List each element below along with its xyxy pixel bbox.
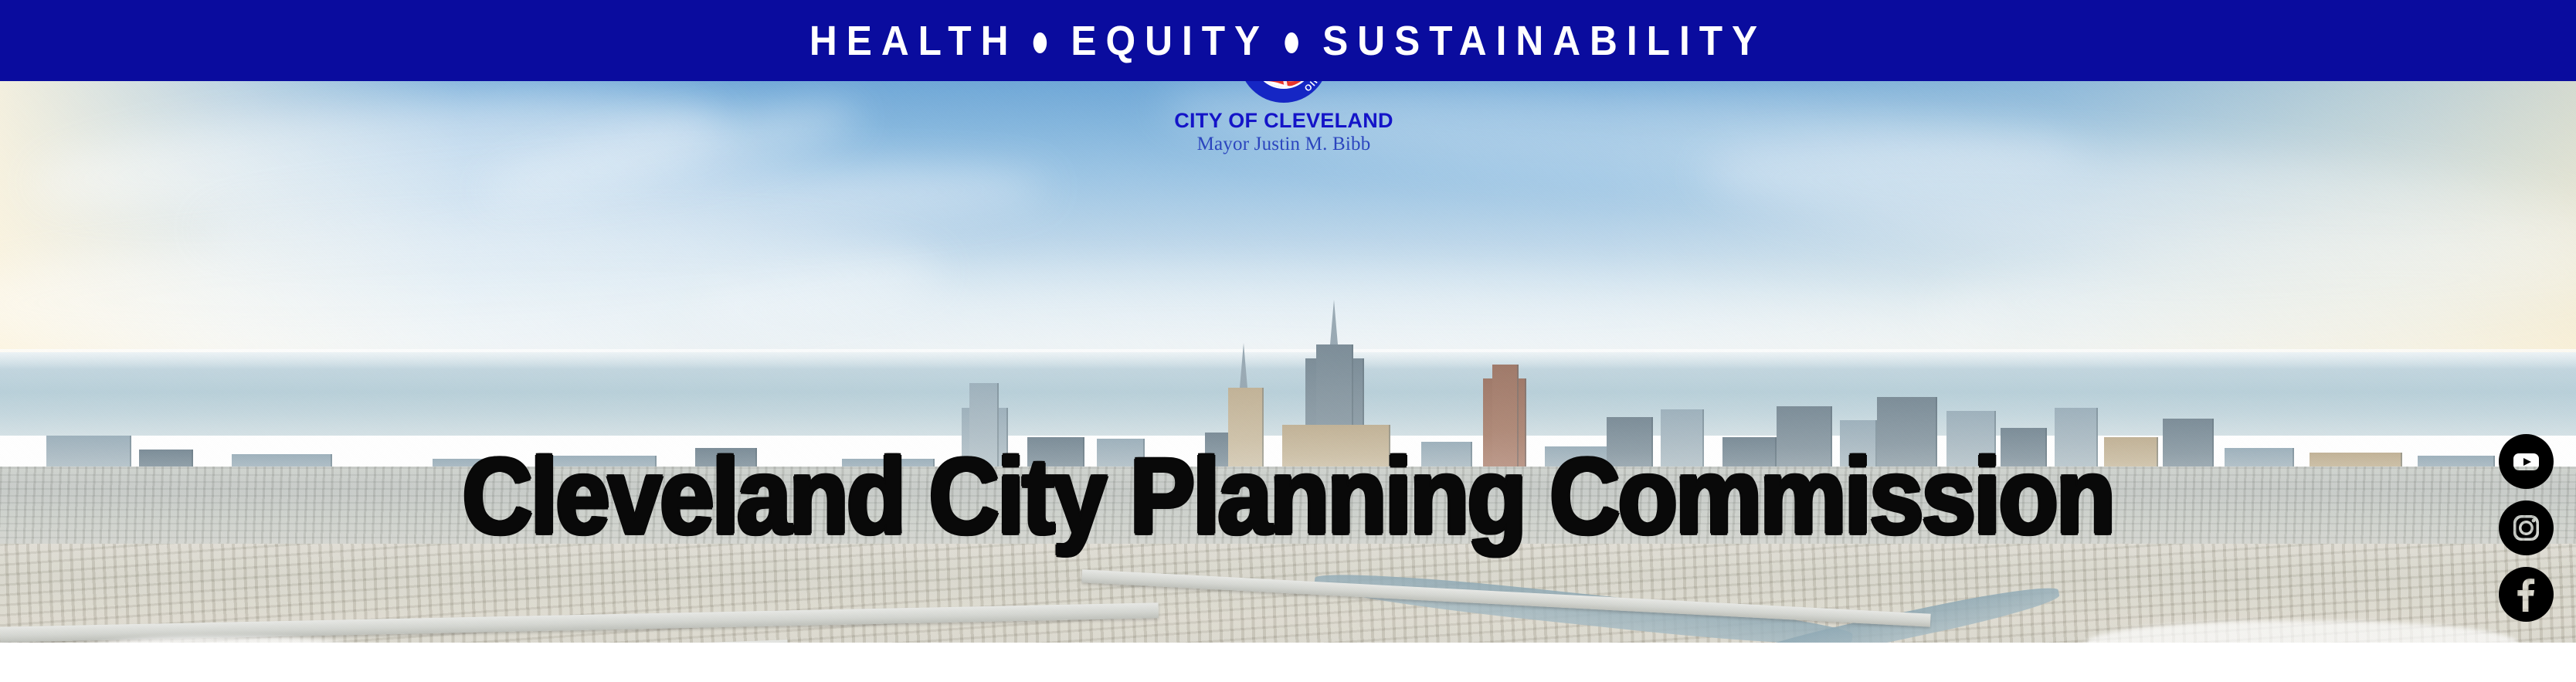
tagline-health: HEALTH <box>809 18 1018 64</box>
footer-whitespace <box>0 643 2576 682</box>
tagline-sustainability: SUSTAINABILITY <box>1322 18 1767 64</box>
youtube-link[interactable] <box>2499 434 2554 489</box>
dot-separator-icon <box>1285 32 1298 53</box>
tagline-banner: HEALTHEQUITYSUSTAINABILITY <box>0 0 2576 81</box>
hero-photo <box>0 80 2576 643</box>
page-root: HEALTHEQUITYSUSTAINABILITY <box>0 0 2576 682</box>
tagline-equity: EQUITY <box>1071 18 1269 64</box>
social-links <box>2499 434 2557 633</box>
tagline-text: HEALTHEQUITYSUSTAINABILITY <box>809 20 1767 62</box>
instagram-link[interactable] <box>2499 500 2554 555</box>
mayor-name: Mayor Justin M. Bibb <box>1091 134 1477 155</box>
org-name: CITY OF CLEVELAND <box>1091 110 1477 131</box>
page-title: Cleveland City Planning Commission <box>0 443 2576 551</box>
facebook-link[interactable] <box>2499 567 2554 622</box>
dot-separator-icon <box>1033 32 1047 53</box>
